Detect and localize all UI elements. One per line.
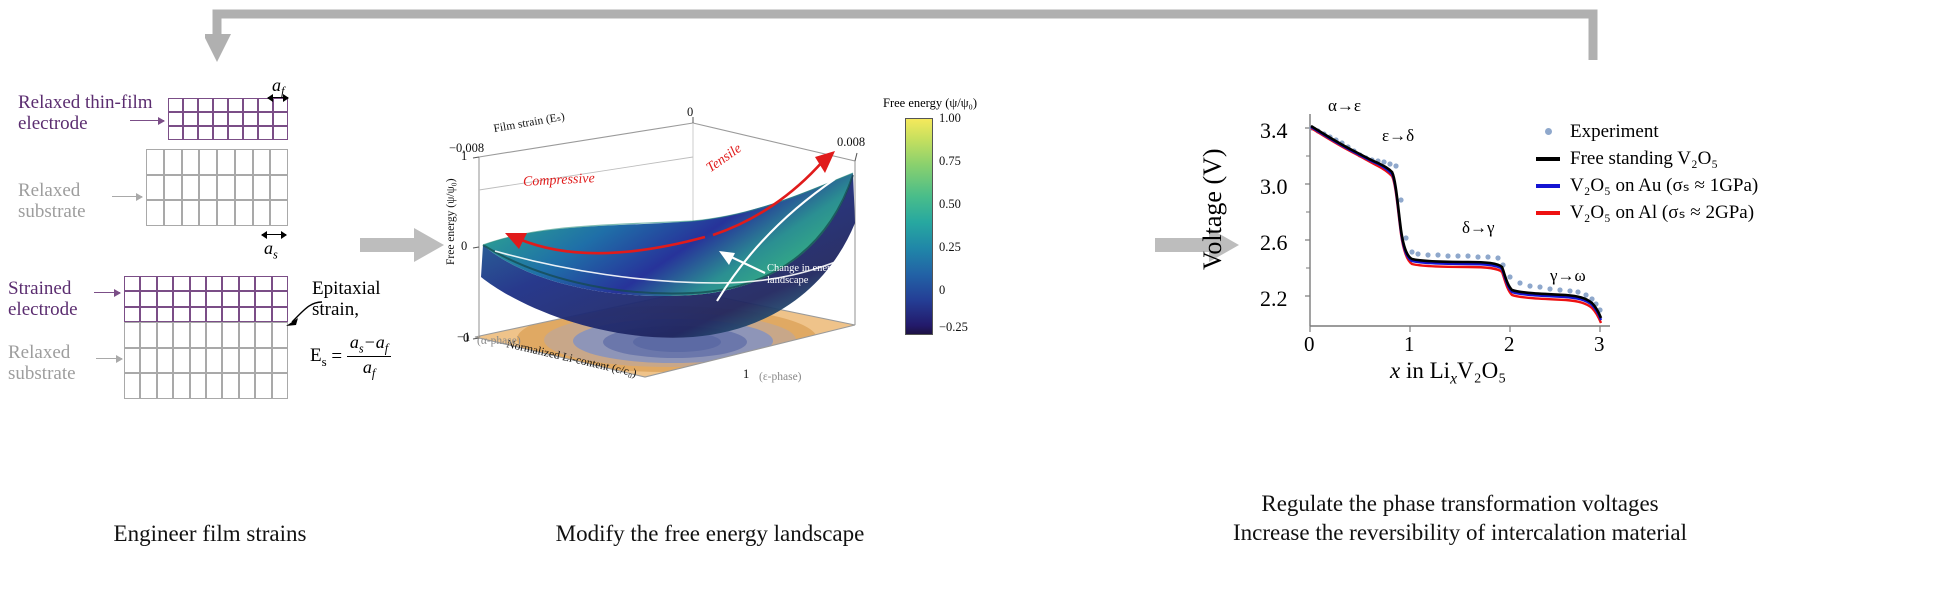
lattice-cell xyxy=(124,373,140,399)
epitaxial-strain-label: Epitaxial strain, xyxy=(312,278,381,321)
relaxed-film-line1: Relaxed thin-film xyxy=(18,92,153,113)
den-a-f: a xyxy=(363,357,372,377)
lattice-cell xyxy=(217,175,235,201)
lattice-cell xyxy=(182,149,200,175)
lattice-cell xyxy=(124,276,140,291)
lattice-cell xyxy=(213,126,228,140)
relaxed-substrate-2-pointer-arrow xyxy=(96,358,122,359)
num-a-f-sub: f xyxy=(385,342,388,356)
relaxed-film-electrode-label: Relaxed thin-film electrode xyxy=(18,92,153,135)
lattice-cell xyxy=(124,307,140,322)
epitaxial-line2: strain, xyxy=(312,299,381,320)
lattice-cell xyxy=(235,175,253,201)
lattice-cell xyxy=(258,126,273,140)
legend-item-free-standing: Free standing V₂O₅ xyxy=(1535,145,1915,172)
lattice-cell xyxy=(173,348,189,374)
lattice-cell xyxy=(146,200,164,226)
lattice-cell xyxy=(182,175,200,201)
lattice-cell xyxy=(270,175,288,201)
x-label-subscript: x xyxy=(1450,371,1457,388)
strained-electrode-line2: electrode xyxy=(8,299,78,320)
caption-right: Regulate the phase transformation voltag… xyxy=(1030,490,1890,548)
surface-z-axis-label: Free energy (ψ/ψ₀) xyxy=(445,178,457,265)
lattice-cell xyxy=(222,276,238,291)
equation-equals: = xyxy=(331,346,342,367)
colorbar-gradient xyxy=(905,118,933,335)
lattice-cell xyxy=(198,98,213,112)
lattice-cell xyxy=(124,291,140,306)
colorbar-title: Free energy (ψ/ψ₀) xyxy=(883,96,977,111)
legend-line-marker-icon xyxy=(1535,211,1561,215)
lattice-cell xyxy=(228,126,243,140)
lattice-cell xyxy=(272,348,288,374)
lattice-cell xyxy=(164,200,182,226)
equation-fraction: as−af af xyxy=(347,332,391,382)
equation-lhs: Es xyxy=(310,345,327,366)
lattice-cell xyxy=(140,276,156,291)
equation-numerator: as−af xyxy=(347,332,391,357)
lattice-cell xyxy=(243,112,258,126)
surface-x-tick-zero: 0 xyxy=(687,105,693,120)
relaxed-film-lattice xyxy=(168,98,288,140)
legend-item-on-al: V₂O₅ on Al (σₛ ≈ 2GPa) xyxy=(1535,199,1915,226)
surface-y-tick-1: 1 xyxy=(743,367,749,382)
lattice-cell xyxy=(222,348,238,374)
lattice-cell xyxy=(157,307,173,322)
num-minus: − xyxy=(364,332,376,352)
lattice-cell xyxy=(168,98,183,112)
lattice-cell xyxy=(206,307,222,322)
den-a-f-sub: f xyxy=(372,367,375,381)
epitaxial-strain-equation: Es = as−af af xyxy=(310,332,391,382)
lattice-cell xyxy=(206,348,222,374)
caption-right-line2: Increase the reversibility of intercalat… xyxy=(1030,519,1890,548)
lattice-cell xyxy=(182,200,200,226)
lattice-cell xyxy=(190,291,206,306)
lattice-cell xyxy=(157,373,173,399)
lattice-cell xyxy=(206,322,222,348)
lattice-cell xyxy=(253,175,271,201)
lattice-cell xyxy=(222,307,238,322)
relaxed-substrate-line2: substrate xyxy=(18,201,86,222)
lattice-cell xyxy=(168,112,183,126)
lattice-cell xyxy=(235,200,253,226)
lattice-cell xyxy=(124,348,140,374)
change-line2: landscape xyxy=(767,275,841,287)
lattice-cell xyxy=(146,149,164,175)
voltage-x-tick-0: 0 xyxy=(1304,332,1315,357)
a-s-subscript: s xyxy=(273,248,278,262)
num-a-s: a xyxy=(350,332,359,352)
lattice-cell xyxy=(253,149,271,175)
lattice-cell xyxy=(206,276,222,291)
colorbar-tick-0: 0 xyxy=(939,283,945,298)
legend-label-on-al: V₂O₅ on Al (σₛ ≈ 2GPa) xyxy=(1570,201,1754,224)
x-label-in: in Li xyxy=(1400,358,1450,383)
lattice-cell xyxy=(255,322,271,348)
arrow-panel1-to-panel2 xyxy=(360,228,444,262)
lattice-cell xyxy=(239,291,255,306)
voltage-y-tick-2.2: 2.2 xyxy=(1260,286,1288,312)
legend-item-experiment: Experiment xyxy=(1535,118,1915,145)
lattice-cell xyxy=(140,373,156,399)
lattice-cell xyxy=(140,348,156,374)
lattice-cell xyxy=(255,291,271,306)
lattice-cell xyxy=(213,98,228,112)
lattice-cell xyxy=(258,112,273,126)
lattice-cell xyxy=(173,373,189,399)
voltage-y-tick-3.0: 3.0 xyxy=(1260,174,1288,200)
lattice-cell xyxy=(239,348,255,374)
lattice-cell xyxy=(190,373,206,399)
lattice-cell xyxy=(273,112,288,126)
x-label-formula: V₂O₅ xyxy=(1457,358,1506,383)
epitaxial-line1: Epitaxial xyxy=(312,278,381,299)
strained-electrode-label: Strained electrode xyxy=(8,278,78,321)
voltage-x-tick-2: 2 xyxy=(1504,332,1515,357)
a-s-dimension-label: as xyxy=(264,238,278,262)
lattice-cell xyxy=(140,322,156,348)
lattice-cell xyxy=(157,348,173,374)
strained-electrode-lattice xyxy=(124,276,288,322)
num-a-f: a xyxy=(376,332,385,352)
lattice-cell xyxy=(198,126,213,140)
lattice-cell xyxy=(206,373,222,399)
relaxed-substrate-2-line2: substrate xyxy=(8,363,76,384)
a-s-dimension-arrow xyxy=(262,234,286,235)
strained-electrode-line1: Strained xyxy=(8,278,78,299)
lattice-cell xyxy=(270,200,288,226)
lattice-cell xyxy=(272,276,288,291)
phase-label-gamma-omega: γ→ω xyxy=(1550,266,1586,286)
lattice-cell xyxy=(157,276,173,291)
lattice-cell xyxy=(235,149,253,175)
caption-right-line1: Regulate the phase transformation voltag… xyxy=(1030,490,1890,519)
feedback-loop-arrow xyxy=(205,4,1605,64)
lattice-cell xyxy=(140,291,156,306)
lattice-cell xyxy=(273,126,288,140)
change-line1: Change in energy xyxy=(767,263,841,275)
x-symbol: x xyxy=(1390,358,1400,383)
lattice-cell xyxy=(213,112,228,126)
phase-label-epsilon-delta: ε→δ xyxy=(1382,126,1414,146)
lattice-cell xyxy=(173,291,189,306)
voltage-x-tick-3: 3 xyxy=(1594,332,1605,357)
lattice-cell xyxy=(124,322,140,348)
surface-y-tick-0: 0 xyxy=(463,331,469,346)
voltage-x-axis-label: x in LixV₂O₅ xyxy=(1390,358,1506,389)
lattice-cell xyxy=(164,149,182,175)
relaxed-substrate-2-line1: Relaxed xyxy=(8,342,76,363)
voltage-x-tick-1: 1 xyxy=(1404,332,1415,357)
lattice-cell xyxy=(164,175,182,201)
caption-left: Engineer film strains xyxy=(40,520,380,549)
lattice-cell xyxy=(228,112,243,126)
lattice-cell xyxy=(255,307,271,322)
lattice-cell xyxy=(173,322,189,348)
lattice-cell xyxy=(146,175,164,201)
lattice-cell xyxy=(173,276,189,291)
relaxed-substrate-line1: Relaxed xyxy=(18,180,86,201)
lattice-cell xyxy=(222,373,238,399)
lattice-cell xyxy=(183,98,198,112)
legend-label-experiment: Experiment xyxy=(1570,121,1659,143)
lattice-cell xyxy=(140,307,156,322)
lattice-cell xyxy=(239,307,255,322)
lattice-cell xyxy=(255,348,271,374)
relaxed-film-pointer-arrow xyxy=(130,120,164,121)
voltage-y-tick-3.4: 3.4 xyxy=(1260,118,1288,144)
surface-x-tick-pos: 0.008 xyxy=(837,135,865,150)
equation-E: E xyxy=(310,345,322,366)
lattice-cell xyxy=(190,322,206,348)
equation-denominator: af xyxy=(347,357,391,381)
lattice-cell xyxy=(183,112,198,126)
strained-electrode-pointer-arrow xyxy=(94,292,120,293)
lattice-cell xyxy=(270,149,288,175)
lattice-cell xyxy=(157,291,173,306)
equation-E-subscript: s xyxy=(322,353,327,368)
relaxed-substrate-label: Relaxed substrate xyxy=(18,180,86,223)
surface-z-tick-0: 0 xyxy=(461,239,467,254)
legend-line-marker-icon xyxy=(1535,157,1561,161)
legend-label-on-au: V₂O₅ on Au (σₛ ≈ 1GPa) xyxy=(1570,174,1758,197)
surface-x-tick-neg: −0.008 xyxy=(449,141,484,156)
change-in-energy-landscape-annotation: Change in energy landscape xyxy=(767,263,841,287)
lattice-cell xyxy=(199,200,217,226)
relaxed-film-line2: electrode xyxy=(18,113,153,134)
a-f-symbol: a xyxy=(272,75,281,95)
colorbar-tick-minus0.25: −0.25 xyxy=(939,320,968,335)
voltage-y-axis-label: Voltage (V) xyxy=(1198,148,1228,270)
a-s-symbol: a xyxy=(264,238,273,258)
voltage-y-tick-2.6: 2.6 xyxy=(1260,230,1288,256)
legend-line-marker-icon xyxy=(1535,184,1561,188)
legend-label-free-standing: Free standing V₂O₅ xyxy=(1570,148,1718,170)
lattice-cell xyxy=(239,322,255,348)
lattice-cell xyxy=(217,200,235,226)
voltage-plot-legend: Experiment Free standing V₂O₅ V₂O₅ on Au… xyxy=(1535,118,1915,226)
relaxed-substrate-pointer-arrow xyxy=(112,196,142,197)
colorbar-tick-0.75: 0.75 xyxy=(939,154,961,169)
caption-middle: Modify the free energy landscape xyxy=(490,520,930,549)
colorbar-tick-0.25: 0.25 xyxy=(939,240,961,255)
lattice-cell xyxy=(217,149,235,175)
relaxed-substrate-2-label: Relaxed substrate xyxy=(8,342,76,385)
legend-dot-marker-icon xyxy=(1535,128,1561,135)
phase-label-delta-gamma: δ→γ xyxy=(1462,218,1495,238)
lattice-cell xyxy=(228,98,243,112)
colorbar-tick-0.50: 0.50 xyxy=(939,197,961,212)
lattice-cell xyxy=(222,322,238,348)
relaxed-substrate-lattice xyxy=(146,149,288,226)
lattice-cell xyxy=(198,112,213,126)
surface-y-tick-1-note: (ε-phase) xyxy=(759,371,802,383)
lattice-cell xyxy=(272,373,288,399)
a-f-dimension-arrow xyxy=(268,97,288,98)
lattice-cell xyxy=(199,175,217,201)
colorbar-tick-1.00: 1.00 xyxy=(939,111,961,126)
free-energy-landscape-panel: Free energy (ψ/ψ₀) 1 0 −1 Film strain (E… xyxy=(455,95,875,385)
lattice-cell xyxy=(173,307,189,322)
lattice-cell xyxy=(199,149,217,175)
lattice-cell xyxy=(206,291,222,306)
lattice-cell xyxy=(190,307,206,322)
lattice-cell xyxy=(243,98,258,112)
lattice-cell xyxy=(239,373,255,399)
relaxed-substrate-2-lattice xyxy=(124,322,288,399)
free-energy-colorbar-group: Free energy (ψ/ψ₀) 1.00 0.75 0.50 0.25 0… xyxy=(895,96,1025,336)
surface-y-tick-0-note: (α-phase) xyxy=(477,335,521,347)
lattice-cell xyxy=(222,291,238,306)
lattice-cell xyxy=(243,126,258,140)
lattice-cell xyxy=(239,276,255,291)
phase-label-alpha-epsilon: α→ε xyxy=(1328,96,1361,116)
lattice-cell xyxy=(255,373,271,399)
legend-item-on-au: V₂O₅ on Au (σₛ ≈ 1GPa) xyxy=(1535,172,1915,199)
lattice-cell xyxy=(183,126,198,140)
lattice-cell xyxy=(157,322,173,348)
lattice-cell xyxy=(190,276,206,291)
lattice-cell xyxy=(168,126,183,140)
lattice-cell xyxy=(190,348,206,374)
lattice-cell xyxy=(255,276,271,291)
lattice-cell xyxy=(253,200,271,226)
